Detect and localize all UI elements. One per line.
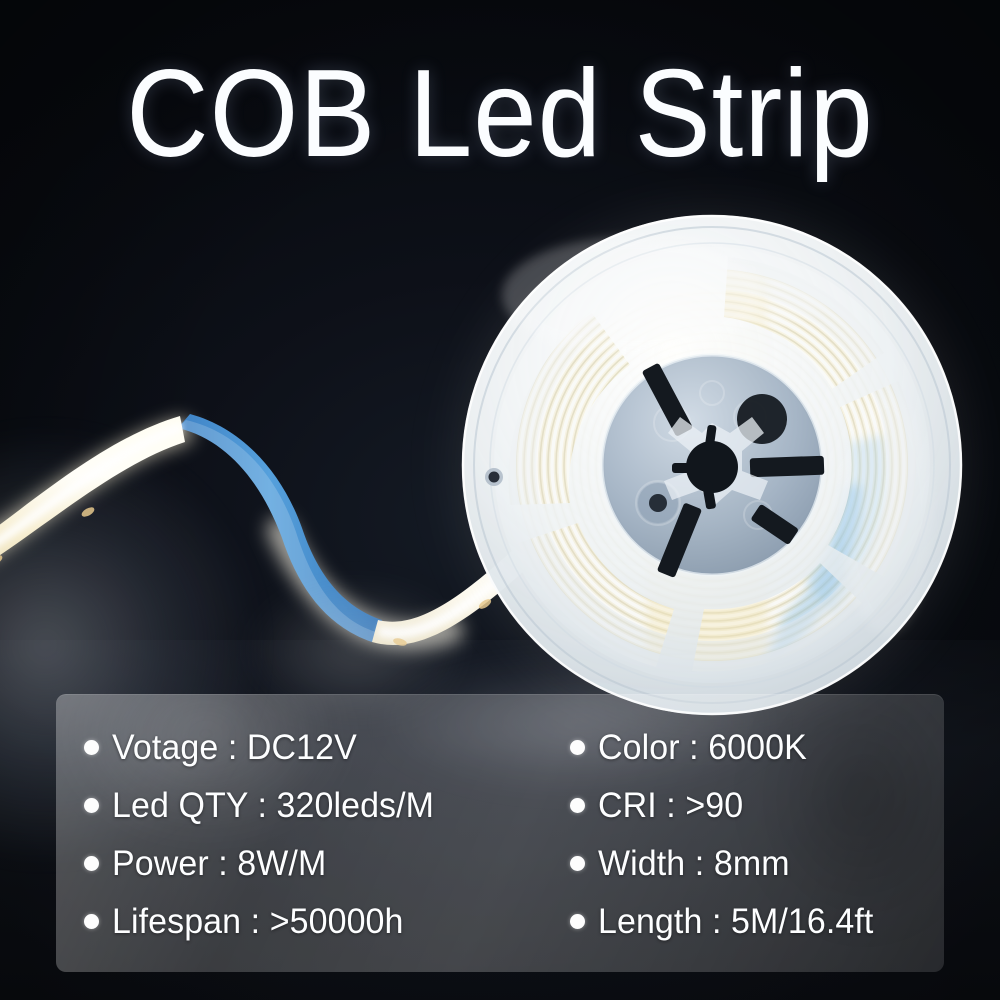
spec-row-color: Color : 6000K (570, 722, 944, 772)
spec-text-cri: CRI : >90 (598, 788, 743, 823)
bullet-dot-icon (84, 740, 99, 755)
led-strip-reel (432, 185, 992, 745)
spec-row-length: Length : 5M/16.4ft (570, 896, 944, 946)
spec-text-voltage: Votage : DC12V (112, 730, 357, 765)
spec-text-width: Width : 8mm (598, 846, 790, 881)
flange-hole (485, 468, 503, 486)
page-title: COB Led Strip (40, 52, 960, 176)
spec-text-lifespan: Lifespan : >50000h (112, 904, 404, 939)
bullet-dot-icon (570, 740, 585, 755)
spec-row-cri: CRI : >90 (570, 780, 944, 830)
product-image: COB Led Strip Votage : DC12V Led QTY : 3… (0, 0, 1000, 1000)
spec-panel: Votage : DC12V Led QTY : 320leds/M Power… (56, 694, 944, 972)
spec-text-power: Power : 8W/M (112, 846, 326, 881)
bullet-dot-icon (84, 798, 99, 813)
spec-row-lifespan: Lifespan : >50000h (84, 896, 570, 946)
spec-text-color: Color : 6000K (598, 730, 807, 765)
spec-text-led-qty: Led QTY : 320leds/M (112, 788, 434, 823)
spec-column-left: Votage : DC12V Led QTY : 320leds/M Power… (56, 694, 570, 972)
bullet-dot-icon (570, 856, 585, 871)
spec-row-led-qty: Led QTY : 320leds/M (84, 780, 570, 830)
bullet-dot-icon (570, 914, 585, 929)
bullet-dot-icon (84, 856, 99, 871)
bullet-dot-icon (570, 798, 585, 813)
spec-row-width: Width : 8mm (570, 838, 944, 888)
spec-row-power: Power : 8W/M (84, 838, 570, 888)
spec-text-length: Length : 5M/16.4ft (598, 904, 873, 939)
spec-row-voltage: Votage : DC12V (84, 722, 570, 772)
spec-column-right: Color : 6000K CRI : >90 Width : 8mm Leng… (570, 694, 944, 972)
bullet-dot-icon (84, 914, 99, 929)
